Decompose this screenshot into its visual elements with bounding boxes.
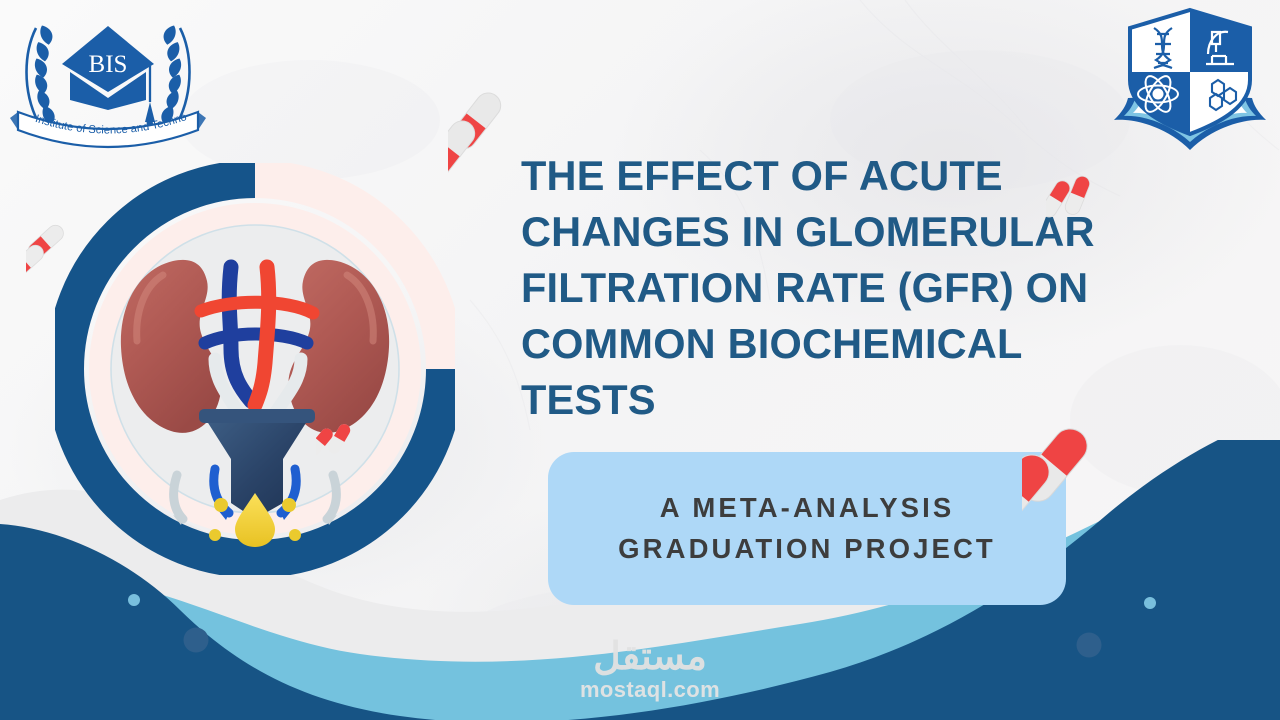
subtitle-line-1: A META-ANALYSIS xyxy=(660,492,955,524)
bis-university-crest: BIS Badr Institute of Science and Techno… xyxy=(8,6,208,166)
watermark-latin: mostaql.com xyxy=(580,677,720,703)
mostaql-watermark: مستقل mostaql.com xyxy=(555,632,745,708)
subtitle-line-2: GRADUATION PROJECT xyxy=(618,533,996,565)
capsule-pair-inside-emblem xyxy=(316,418,372,474)
capsule-pair-top-left-title xyxy=(448,82,548,194)
crest-monogram: BIS xyxy=(89,51,128,78)
presentation-slide: BIS Badr Institute of Science and Techno… xyxy=(0,0,1280,720)
watermark-arabic: مستقل xyxy=(593,637,707,677)
subtitle-banner: A META-ANALYSIS GRADUATION PROJECT xyxy=(548,452,1066,605)
capsule-pair-left-edge xyxy=(26,218,102,298)
capsule-pair-title-right xyxy=(1046,172,1116,242)
kidney-filtration-emblem xyxy=(55,163,455,575)
science-shield-crest xyxy=(1108,2,1272,152)
capsule-pair-subtitle-corner xyxy=(1022,408,1144,530)
